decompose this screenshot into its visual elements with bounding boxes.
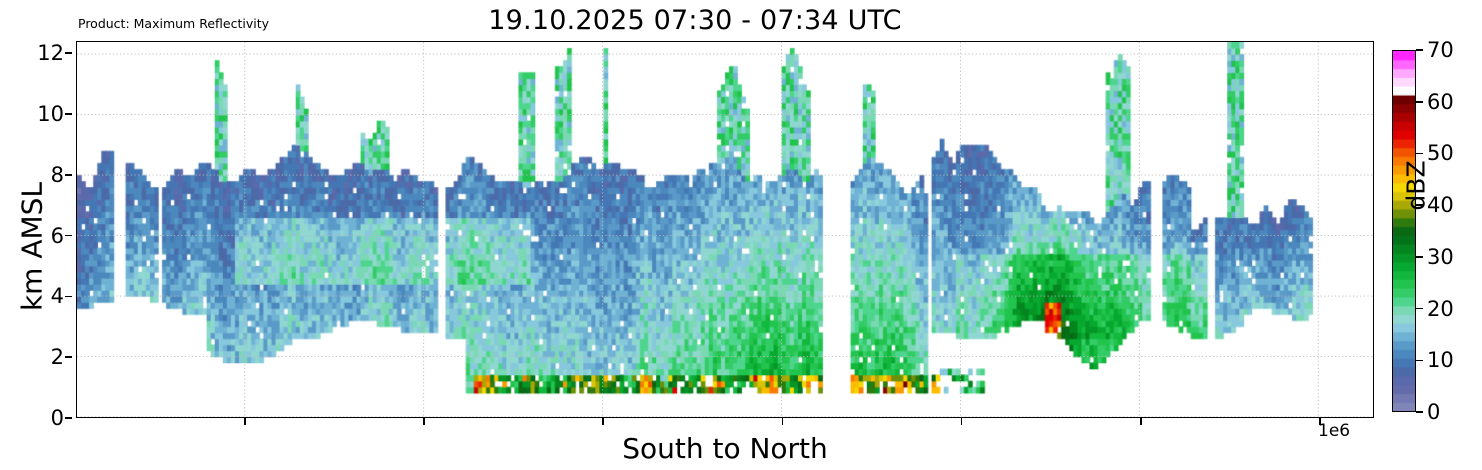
colorbar-tick-mark (1416, 49, 1423, 51)
colorbar-tick-label: 0 (1427, 400, 1440, 424)
x-axis-label: South to North (76, 432, 1374, 465)
colorbar-tick-label: 40 (1427, 193, 1454, 217)
colorbar-tick-label: 50 (1427, 141, 1454, 165)
colorbar-label: dBZ (1402, 126, 1431, 246)
colorbar-tick-mark (1416, 256, 1423, 258)
x-axis-offset-label: 1e6 (1318, 421, 1350, 441)
colorbar-tick-label: 10 (1427, 348, 1454, 372)
colorbar-tick-label: 60 (1427, 90, 1454, 114)
colorbar-tick-mark (1416, 411, 1423, 413)
colorbar-tick-mark (1416, 101, 1423, 103)
colorbar-tick-mark (1416, 360, 1423, 362)
colorbar-tick-mark (1416, 308, 1423, 310)
x-axis-tick-marks (0, 418, 1482, 430)
plot-area (76, 41, 1374, 418)
reflectivity-heatmap (77, 42, 1373, 417)
radar-cross-section-figure: 19.10.2025 07:30 - 07:34 UTC Product: Ma… (0, 0, 1482, 470)
product-subtitle: Product: Maximum Reflectivity (78, 16, 269, 31)
y-axis-label: km AMSL (16, 127, 49, 367)
colorbar-tick-label: 30 (1427, 245, 1454, 269)
colorbar-tick-label: 20 (1427, 297, 1454, 321)
colorbar-tick-label: 70 (1427, 38, 1454, 62)
